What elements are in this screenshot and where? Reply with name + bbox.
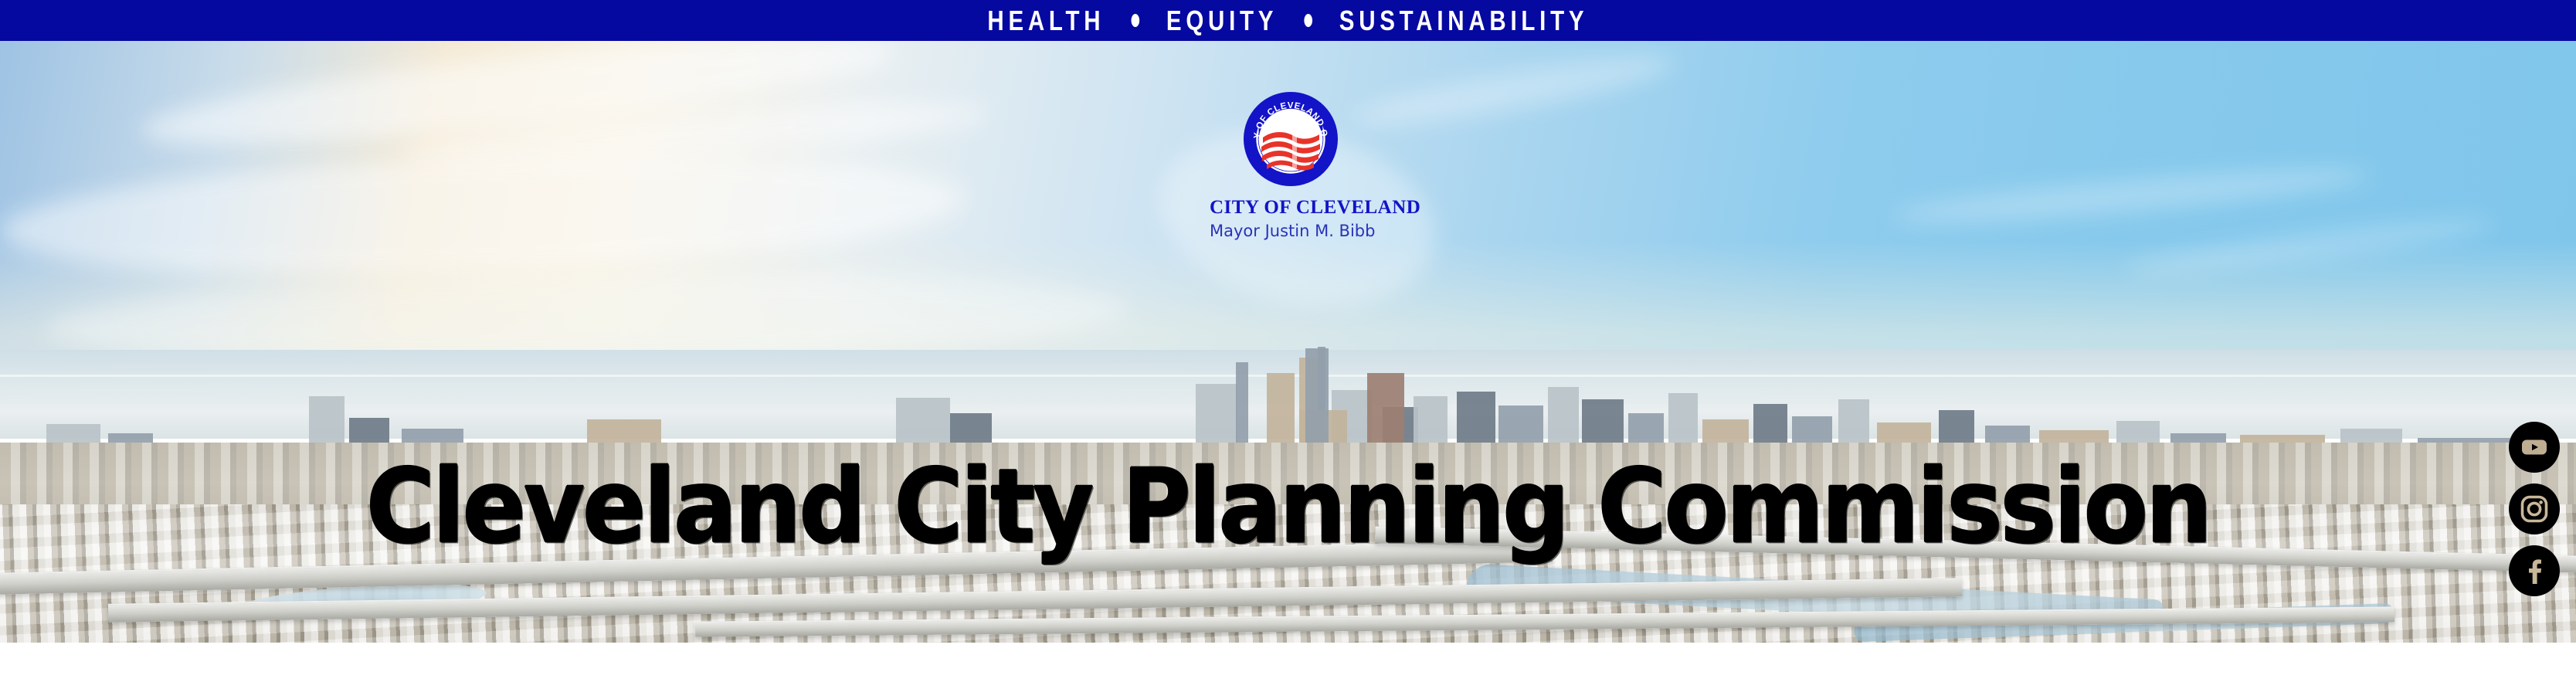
tagline-word-sustainability: SUSTAINABILITY: [1339, 7, 1589, 35]
tagline-separator-dot-2: [1305, 14, 1313, 27]
page-root: HEALTH EQUITY SUSTAINABILITY: [0, 0, 2576, 682]
social-media-rail: [2505, 422, 2564, 596]
tagline-inner: HEALTH EQUITY SUSTAINABILITY: [988, 7, 1589, 35]
social-link-instagram[interactable]: [2509, 484, 2560, 534]
instagram-icon: [2520, 494, 2549, 524]
bottom-white-strip: [0, 643, 2576, 682]
tagline-separator-dot-1: [1132, 14, 1140, 27]
social-link-youtube[interactable]: [2509, 422, 2560, 473]
tagline-word-equity: EQUITY: [1166, 7, 1278, 35]
social-link-facebook[interactable]: [2509, 545, 2560, 596]
tagline-word-health: HEALTH: [988, 7, 1105, 35]
city-seal-icon: CITY OF CLEVELAND OHIO: [1243, 91, 1339, 187]
page-title-text: Cleveland City Planning Commission: [366, 456, 2210, 558]
tagline-banner: HEALTH EQUITY SUSTAINABILITY: [0, 0, 2576, 41]
logo-mayor-line: Mayor Justin M. Bibb: [1210, 223, 1372, 239]
youtube-icon: [2520, 433, 2549, 462]
city-of-cleveland-logo[interactable]: CITY OF CLEVELAND OHIO CITY OF CLEVELAND…: [1210, 91, 1372, 239]
page-title: Cleveland City Planning Commission: [0, 456, 2576, 552]
logo-org-name: CITY OF CLEVELAND: [1210, 198, 1372, 217]
facebook-icon: [2520, 556, 2549, 585]
